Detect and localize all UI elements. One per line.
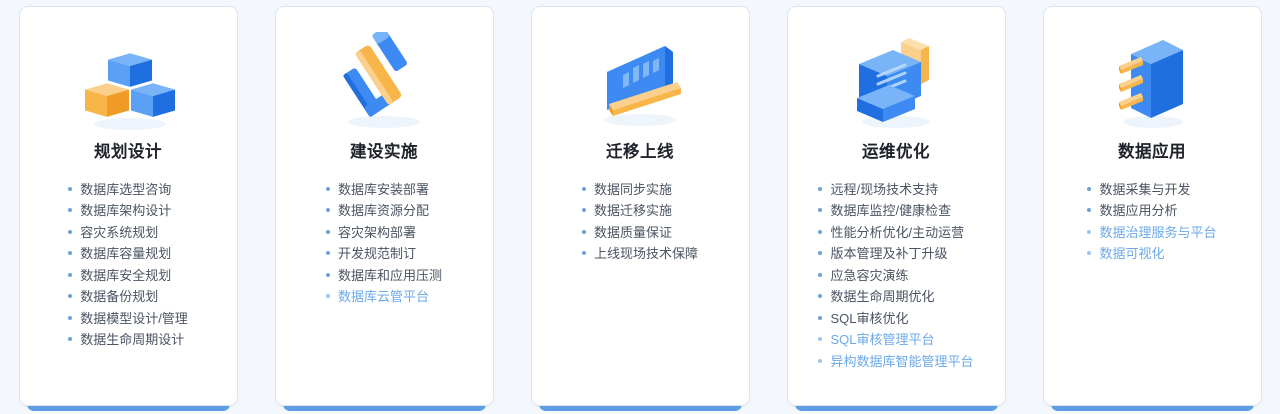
feature-item-label: 数据库云管平台 xyxy=(338,286,429,308)
feature-item: 数据同步实施 xyxy=(582,179,698,201)
data-book-icon xyxy=(1092,27,1212,137)
bullet-dot-icon xyxy=(818,316,822,320)
feature-item: 数据生命周期设计 xyxy=(68,329,188,351)
card-accent-bar xyxy=(27,400,230,411)
service-card-construction-implementation[interactable]: 建设实施数据库安装部署数据库资源分配容灾架构部署开发规范制订数据库和应用压测数据… xyxy=(275,6,494,406)
bullet-dot-icon xyxy=(818,337,822,341)
feature-item: 容灾架构部署 xyxy=(326,222,442,244)
bullet-dot-icon xyxy=(326,187,330,191)
bullet-dot-icon xyxy=(818,251,822,255)
monitor-chart-icon xyxy=(580,27,700,137)
feature-item: 数据库容量规划 xyxy=(68,243,188,265)
service-card-data-application[interactable]: 数据应用数据采集与开发数据应用分析数据治理服务与平台数据可视化 xyxy=(1043,6,1262,406)
feature-item: 数据采集与开发 xyxy=(1087,179,1216,201)
feature-item-label: 数据模型设计/管理 xyxy=(80,308,188,330)
feature-item: 数据备份规划 xyxy=(68,286,188,308)
bullet-dot-icon xyxy=(326,294,330,298)
feature-link-item[interactable]: 数据治理服务与平台 xyxy=(1087,222,1216,244)
feature-item: 数据应用分析 xyxy=(1087,200,1216,222)
card-title-construction-implementation: 建设实施 xyxy=(350,143,418,163)
card-title-migration-golive: 迁移上线 xyxy=(606,143,674,163)
service-card-operations-optimization[interactable]: 运维优化远程/现场技术支持数据库监控/健康检查性能分析优化/主动运营版本管理及补… xyxy=(787,6,1006,406)
card-accent-bar xyxy=(539,400,742,411)
three-cubes-icon xyxy=(68,27,188,137)
feature-item-label: 数据备份规划 xyxy=(80,286,158,308)
card-slot-construction-implementation: 建设实施数据库安装部署数据库资源分配容灾架构部署开发规范制订数据库和应用压测数据… xyxy=(256,6,512,406)
bullet-dot-icon xyxy=(68,208,72,212)
feature-list-data-application: 数据采集与开发数据应用分析数据治理服务与平台数据可视化 xyxy=(1087,179,1216,265)
feature-link-item[interactable]: 异构数据库智能管理平台 xyxy=(818,351,973,373)
bullet-dot-icon xyxy=(68,294,72,298)
card-slot-operations-optimization: 运维优化远程/现场技术支持数据库监控/健康检查性能分析优化/主动运营版本管理及补… xyxy=(768,6,1024,406)
feature-item-label: 数据库和应用压测 xyxy=(338,265,442,287)
feature-item: 数据库资源分配 xyxy=(326,200,442,222)
bullet-dot-icon xyxy=(818,187,822,191)
card-accent-bar xyxy=(795,400,998,411)
feature-item: 开发规范制订 xyxy=(326,243,442,265)
feature-item: 容灾系统规划 xyxy=(68,222,188,244)
bullet-dot-icon xyxy=(326,230,330,234)
card-title-operations-optimization: 运维优化 xyxy=(862,143,930,163)
feature-item-label: 数据库监控/健康检查 xyxy=(830,200,951,222)
bullet-dot-icon xyxy=(68,230,72,234)
bullet-dot-icon xyxy=(326,273,330,277)
bullet-dot-icon xyxy=(818,294,822,298)
feature-item-label: 远程/现场技术支持 xyxy=(830,179,938,201)
card-slot-planning-design: 规划设计数据库选型咨询数据库架构设计容灾系统规划数据库容量规划数据库安全规划数据… xyxy=(0,6,256,406)
feature-item: 数据模型设计/管理 xyxy=(68,308,188,330)
feature-item-label: 异构数据库智能管理平台 xyxy=(830,351,973,373)
feature-link-item[interactable]: SQL审核管理平台 xyxy=(818,329,973,351)
feature-item-label: 数据治理服务与平台 xyxy=(1099,222,1216,244)
bullet-dot-icon xyxy=(68,273,72,277)
feature-link-item[interactable]: 数据库云管平台 xyxy=(326,286,442,308)
bullet-dot-icon xyxy=(68,187,72,191)
card-accent-bar xyxy=(1051,400,1254,411)
feature-item: 数据库架构设计 xyxy=(68,200,188,222)
feature-item-label: 性能分析优化/主动运营 xyxy=(830,222,964,244)
feature-item-label: 数据可视化 xyxy=(1099,243,1164,265)
service-lifecycle-cards: 规划设计数据库选型咨询数据库架构设计容灾系统规划数据库容量规划数据库安全规划数据… xyxy=(0,0,1280,414)
feature-item: 数据库和应用压测 xyxy=(326,265,442,287)
bullet-dot-icon xyxy=(582,230,586,234)
card-slot-data-application: 数据应用数据采集与开发数据应用分析数据治理服务与平台数据可视化 xyxy=(1024,6,1280,406)
feature-item-label: 数据质量保证 xyxy=(594,222,672,244)
bullet-dot-icon xyxy=(68,316,72,320)
bullet-dot-icon xyxy=(1087,208,1091,212)
feature-item-label: 数据迁移实施 xyxy=(594,200,672,222)
bullet-dot-icon xyxy=(582,208,586,212)
bullet-dot-icon xyxy=(818,273,822,277)
card-title-planning-design: 规划设计 xyxy=(94,143,162,163)
feature-item-label: 版本管理及补丁升级 xyxy=(830,243,947,265)
feature-item-label: 数据库安全规划 xyxy=(80,265,171,287)
feature-item: 上线现场技术保障 xyxy=(582,243,698,265)
bullet-dot-icon xyxy=(68,251,72,255)
feature-item: 数据迁移实施 xyxy=(582,200,698,222)
bullet-dot-icon xyxy=(68,337,72,341)
feature-item-label: 数据生命周期设计 xyxy=(80,329,184,351)
feature-item-label: 数据库选型咨询 xyxy=(80,179,171,201)
feature-item-label: 数据生命周期优化 xyxy=(830,286,934,308)
feature-item-label: 数据同步实施 xyxy=(594,179,672,201)
bullet-dot-icon xyxy=(818,230,822,234)
feature-item-label: 应急容灾演练 xyxy=(830,265,908,287)
service-card-migration-golive[interactable]: 迁移上线数据同步实施数据迁移实施数据质量保证上线现场技术保障 xyxy=(531,6,750,406)
feature-item-label: SQL审核优化 xyxy=(830,308,908,330)
feature-list-migration-golive: 数据同步实施数据迁移实施数据质量保证上线现场技术保障 xyxy=(582,179,698,265)
feature-item: 远程/现场技术支持 xyxy=(818,179,973,201)
feature-item: 数据库安装部署 xyxy=(326,179,442,201)
feature-item-label: 容灾架构部署 xyxy=(338,222,416,244)
feature-item-label: 数据库架构设计 xyxy=(80,200,171,222)
bullet-dot-icon xyxy=(582,251,586,255)
feature-item-label: 容灾系统规划 xyxy=(80,222,158,244)
feature-item-label: 数据采集与开发 xyxy=(1099,179,1190,201)
bullet-dot-icon xyxy=(1087,230,1091,234)
feature-list-planning-design: 数据库选型咨询数据库架构设计容灾系统规划数据库容量规划数据库安全规划数据备份规划… xyxy=(68,179,188,351)
feature-item: 数据质量保证 xyxy=(582,222,698,244)
bullet-dot-icon xyxy=(1087,187,1091,191)
feature-item-label: 数据库安装部署 xyxy=(338,179,429,201)
bullet-dot-icon xyxy=(326,208,330,212)
feature-item-label: SQL审核管理平台 xyxy=(830,329,934,351)
feature-item-label: 数据库资源分配 xyxy=(338,200,429,222)
service-card-planning-design[interactable]: 规划设计数据库选型咨询数据库架构设计容灾系统规划数据库容量规划数据库安全规划数据… xyxy=(19,6,238,406)
bullet-dot-icon xyxy=(326,251,330,255)
card-slot-migration-golive: 迁移上线数据同步实施数据迁移实施数据质量保证上线现场技术保障 xyxy=(512,6,768,406)
feature-item: 版本管理及补丁升级 xyxy=(818,243,973,265)
feature-item: SQL审核优化 xyxy=(818,308,973,330)
feature-item-label: 数据应用分析 xyxy=(1099,200,1177,222)
feature-item: 性能分析优化/主动运营 xyxy=(818,222,973,244)
card-title-data-application: 数据应用 xyxy=(1118,143,1186,163)
feature-item: 数据库安全规划 xyxy=(68,265,188,287)
feature-item-label: 数据库容量规划 xyxy=(80,243,171,265)
bullet-dot-icon xyxy=(582,187,586,191)
bullet-dot-icon xyxy=(1087,251,1091,255)
feature-list-operations-optimization: 远程/现场技术支持数据库监控/健康检查性能分析优化/主动运营版本管理及补丁升级应… xyxy=(818,179,973,373)
tilted-bars-icon xyxy=(324,27,444,137)
server-stack-icon xyxy=(836,27,956,137)
feature-item: 数据库选型咨询 xyxy=(68,179,188,201)
bullet-dot-icon xyxy=(818,208,822,212)
feature-item: 数据生命周期优化 xyxy=(818,286,973,308)
feature-item-label: 开发规范制订 xyxy=(338,243,416,265)
card-accent-bar xyxy=(283,400,486,411)
feature-link-item[interactable]: 数据可视化 xyxy=(1087,243,1216,265)
feature-item: 应急容灾演练 xyxy=(818,265,973,287)
feature-item-label: 上线现场技术保障 xyxy=(594,243,698,265)
feature-item: 数据库监控/健康检查 xyxy=(818,200,973,222)
feature-list-construction-implementation: 数据库安装部署数据库资源分配容灾架构部署开发规范制订数据库和应用压测数据库云管平… xyxy=(326,179,442,308)
bullet-dot-icon xyxy=(818,359,822,363)
